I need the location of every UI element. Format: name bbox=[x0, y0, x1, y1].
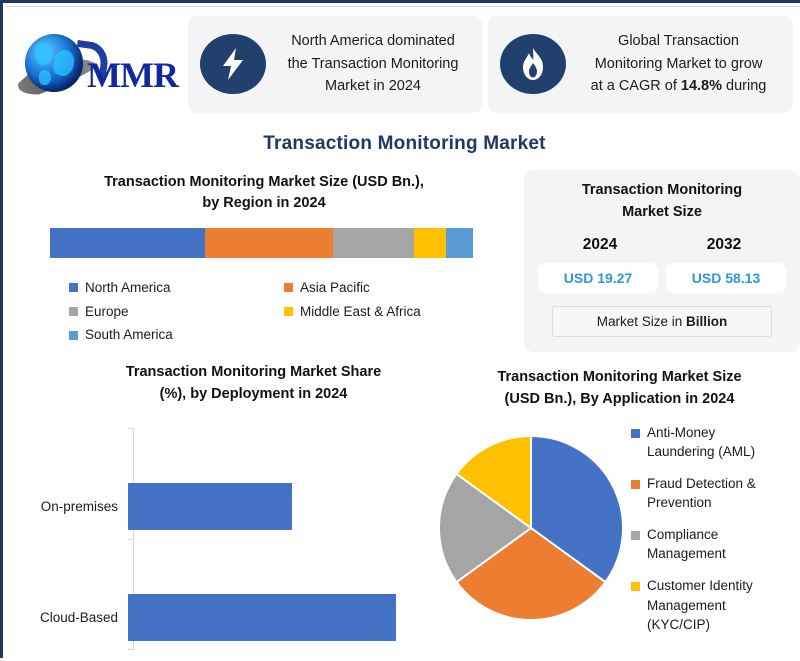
application-chart-legend: Anti-MoneyLaundering (AML)Fraud Detectio… bbox=[631, 423, 796, 647]
application-legend-item: ComplianceManagement bbox=[631, 525, 796, 563]
region-legend-item: South America bbox=[69, 324, 284, 346]
market-size-card: Transaction Monitoring Market Size 2024 … bbox=[524, 170, 800, 352]
infographic-page: MMR North America dominated the Transact… bbox=[0, 0, 800, 658]
region-legend-item: Europe bbox=[69, 301, 284, 323]
region-segment bbox=[205, 228, 333, 258]
deployment-axis-tick bbox=[128, 649, 134, 650]
region-chart-title: Transaction Monitoring Market Size (USD … bbox=[24, 172, 504, 214]
legend-swatch-icon bbox=[631, 429, 640, 438]
region-legend-label: North America bbox=[85, 277, 171, 299]
header-badge-cagr-line2: Monitoring Market to grow bbox=[595, 56, 763, 72]
header-badge-cagr-line3-pre: at a CAGR of bbox=[591, 78, 681, 94]
legend-swatch-icon bbox=[631, 480, 640, 489]
application-chart-title-line1: Transaction Monitoring Market Size bbox=[497, 369, 741, 385]
region-legend-item: Middle East & Africa bbox=[284, 301, 499, 323]
application-legend-label: ComplianceManagement bbox=[647, 525, 726, 563]
infographic-canvas: MMR North America dominated the Transact… bbox=[6, 6, 800, 661]
region-legend-item: Asia Pacific bbox=[284, 277, 499, 299]
header-badge-cagr: Global Transaction Monitoring Market to … bbox=[488, 16, 793, 113]
header-bar: MMR North America dominated the Transact… bbox=[6, 11, 800, 117]
legend-swatch-icon bbox=[69, 331, 78, 340]
legend-swatch-icon bbox=[284, 283, 293, 292]
market-size-year-end: 2032 bbox=[662, 236, 786, 254]
region-chart-title-line1: Transaction Monitoring Market Size (USD … bbox=[104, 174, 424, 190]
market-size-card-title: Transaction Monitoring Market Size bbox=[538, 180, 786, 224]
application-legend-label: Customer IdentityManagement(KYC/CIP) bbox=[647, 576, 753, 633]
market-size-unit-pre: Market Size in bbox=[597, 314, 686, 329]
page-title: Transaction Monitoring Market bbox=[6, 133, 800, 155]
market-size-title-line1: Transaction Monitoring bbox=[582, 182, 742, 198]
legend-swatch-icon bbox=[284, 307, 293, 316]
market-size-unit-note: Market Size in Billion bbox=[552, 306, 772, 337]
region-segment bbox=[446, 228, 473, 258]
application-legend-item: Customer IdentityManagement(KYC/CIP) bbox=[631, 576, 796, 633]
region-segment bbox=[333, 228, 414, 258]
deployment-chart-title-line2: (%), by Deployment in 2024 bbox=[160, 386, 348, 402]
pie-chart bbox=[438, 433, 624, 623]
deployment-bar bbox=[128, 483, 292, 530]
application-chart-title-line2: (USD Bn.), By Application in 2024 bbox=[505, 391, 735, 407]
application-chart: Transaction Monitoring Market Size (USD … bbox=[436, 367, 800, 639]
deployment-category-label: Cloud-Based bbox=[16, 610, 128, 625]
region-chart: Transaction Monitoring Market Size (USD … bbox=[24, 172, 504, 348]
header-badge-region-line1: North America dominated bbox=[291, 33, 455, 49]
brand-logo[interactable]: MMR bbox=[12, 19, 182, 109]
region-segment bbox=[414, 228, 446, 258]
deployment-chart: Transaction Monitoring Market Share (%),… bbox=[16, 362, 436, 656]
region-stacked-bar bbox=[50, 228, 473, 258]
application-legend-label: Fraud Detection &Prevention bbox=[647, 474, 756, 512]
region-legend-label: Europe bbox=[85, 301, 129, 323]
market-size-value-start: USD 19.27 bbox=[538, 263, 658, 293]
header-badge-region-line2: the Transaction Monitoring bbox=[288, 56, 459, 72]
header-badge-cagr-value: 14.8% bbox=[681, 78, 722, 94]
market-size-year-start: 2024 bbox=[538, 236, 662, 254]
lightning-bolt-icon bbox=[200, 34, 266, 94]
deployment-bar bbox=[128, 594, 396, 641]
deployment-category-label: On-premises bbox=[16, 499, 128, 514]
market-size-title-line2: Market Size bbox=[622, 204, 702, 220]
deployment-row: Cloud-Based bbox=[16, 594, 436, 641]
legend-swatch-icon bbox=[631, 531, 640, 540]
brand-logo-text: MMR bbox=[87, 54, 178, 96]
application-legend-label: Anti-MoneyLaundering (AML) bbox=[647, 423, 755, 461]
region-chart-legend: North AmericaAsia PacificEuropeMiddle Ea… bbox=[69, 277, 499, 348]
region-legend-label: Asia Pacific bbox=[300, 277, 370, 299]
market-size-value-end: USD 58.13 bbox=[666, 263, 786, 293]
header-badge-cagr-line1: Global Transaction bbox=[618, 33, 739, 49]
legend-swatch-icon bbox=[631, 582, 640, 591]
deployment-chart-title-line1: Transaction Monitoring Market Share bbox=[126, 364, 381, 380]
header-badge-cagr-line3-post: during bbox=[722, 78, 766, 94]
deployment-axis-tick bbox=[128, 428, 134, 429]
deployment-chart-plot: On-premisesCloud-Based bbox=[16, 426, 436, 656]
market-size-values: USD 19.27 USD 58.13 bbox=[538, 263, 786, 293]
market-size-unit-bold: Billion bbox=[686, 314, 727, 329]
region-legend-item: North America bbox=[69, 277, 284, 299]
region-chart-title-line2: by Region in 2024 bbox=[202, 195, 325, 211]
application-chart-plot: Anti-MoneyLaundering (AML)Fraud Detectio… bbox=[436, 419, 800, 639]
region-legend-label: Middle East & Africa bbox=[300, 301, 421, 323]
legend-swatch-icon bbox=[69, 283, 78, 292]
flame-icon bbox=[500, 34, 566, 94]
header-badge-region-line3: Market in 2024 bbox=[325, 78, 421, 94]
market-size-years: 2024 2032 bbox=[538, 236, 786, 254]
legend-swatch-icon bbox=[69, 307, 78, 316]
application-legend-item: Anti-MoneyLaundering (AML) bbox=[631, 423, 796, 461]
region-legend-label: South America bbox=[85, 324, 173, 346]
deployment-chart-title: Transaction Monitoring Market Share (%),… bbox=[16, 362, 436, 406]
application-chart-title: Transaction Monitoring Market Size (USD … bbox=[436, 367, 800, 411]
deployment-row: On-premises bbox=[16, 483, 436, 530]
application-legend-item: Fraud Detection &Prevention bbox=[631, 474, 796, 512]
deployment-axis-tick bbox=[128, 539, 134, 540]
region-segment bbox=[50, 228, 205, 258]
header-badge-region: North America dominated the Transaction … bbox=[188, 16, 482, 113]
